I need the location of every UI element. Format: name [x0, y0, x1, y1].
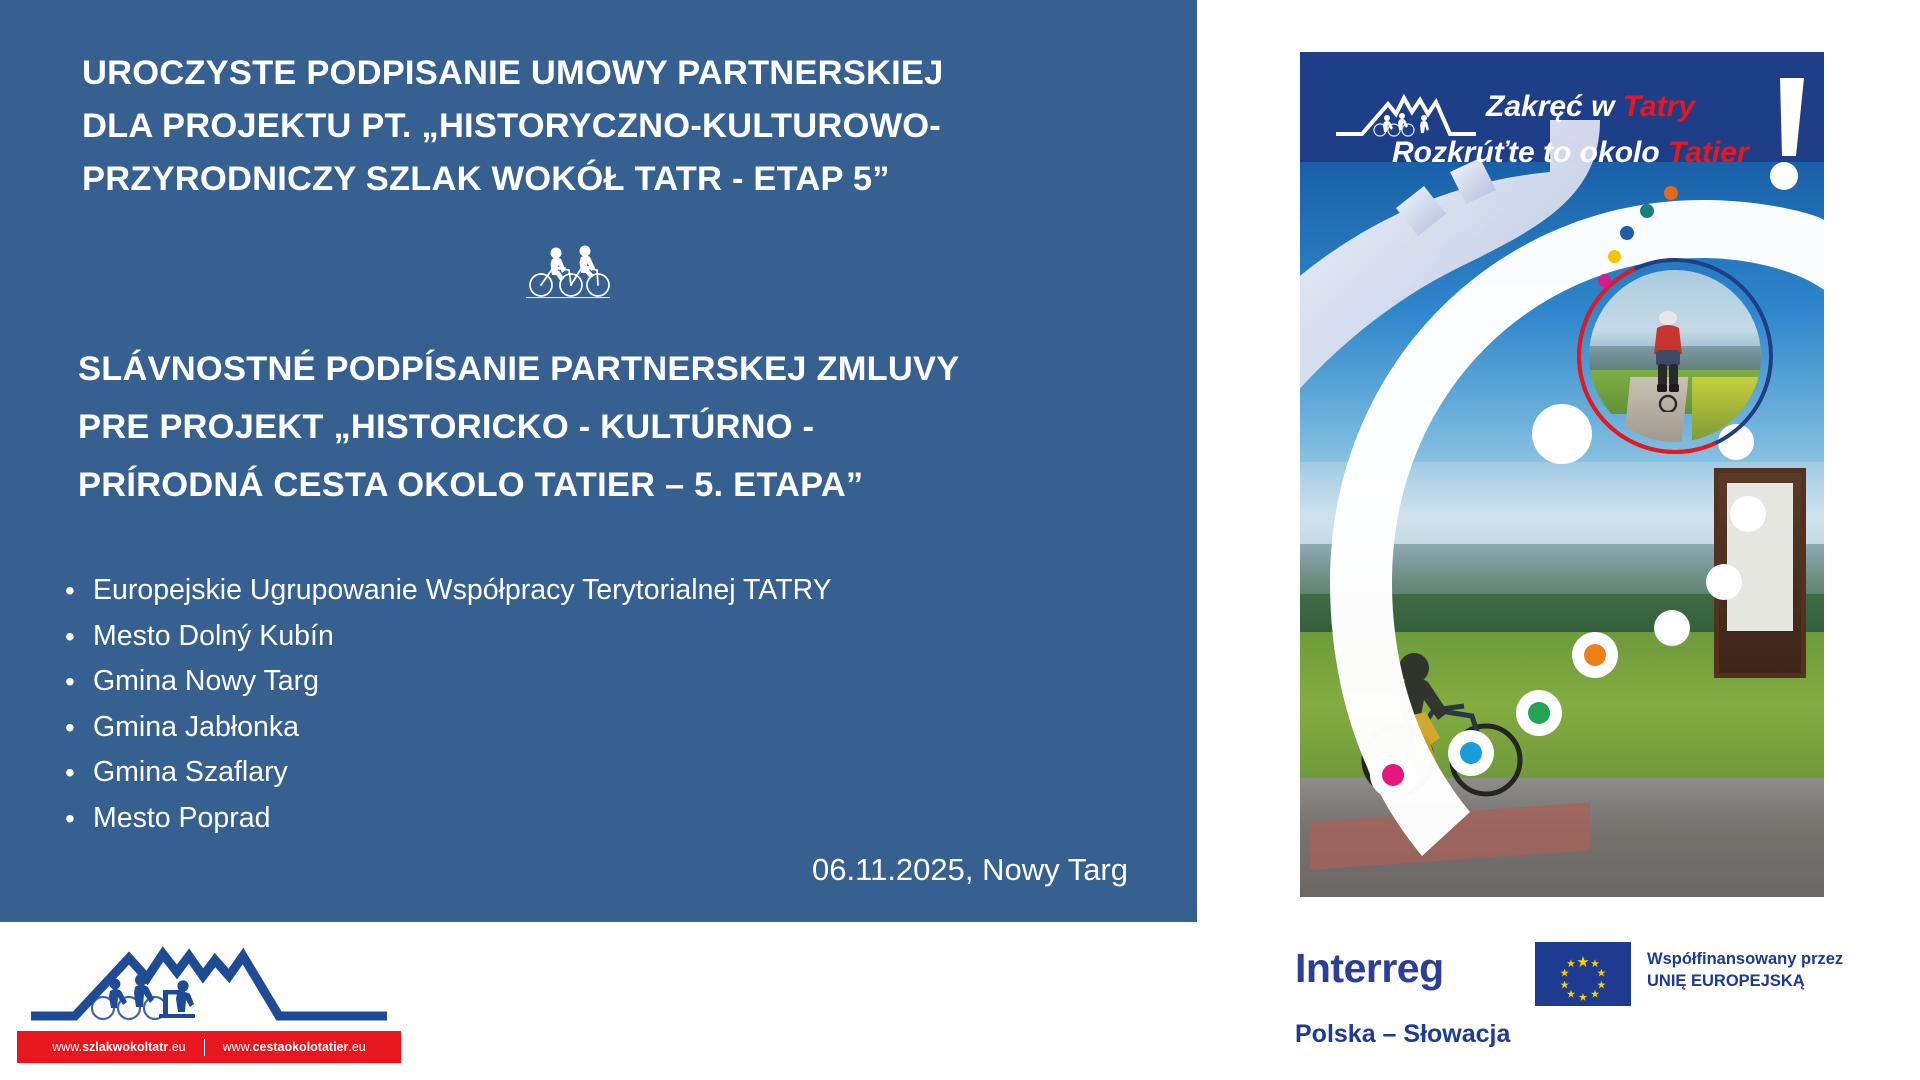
heading-slovak-line-3: PRÍRODNÁ CESTA OKOLO TATIER – 5. ETAPA”	[78, 456, 1158, 514]
photo-trail-signboard	[1714, 468, 1806, 678]
interreg-wordmark: Interreg	[1295, 944, 1444, 992]
inset-cyclist	[1645, 308, 1691, 412]
arc-dot-magenta	[1370, 752, 1416, 798]
partner-list: • Europejskie Ugrupowanie Współpracy Ter…	[62, 568, 832, 841]
presentation-slide: UROCZYSTE PODPISANIE UMOWY PARTNERSKIEJ …	[0, 0, 1920, 1080]
bead-teal-icon	[1640, 204, 1654, 218]
interreg-programme-name: Polska – Słowacja	[1295, 1020, 1510, 1049]
bullet-icon: •	[65, 796, 75, 842]
bead-yellow-icon	[1608, 250, 1621, 263]
claim-line1-accent: Tatry	[1623, 90, 1695, 123]
list-item-label: Europejskie Ugrupowanie Współpracy Teryt…	[93, 574, 832, 606]
arc-dot-blue	[1448, 730, 1494, 776]
heading-slovak: SLÁVNOSTNÉ PODPÍSANIE PARTNERSKEJ ZMLUVY…	[78, 340, 1158, 514]
poster-photo-inset	[1589, 270, 1761, 442]
dot-orange-icon	[1584, 644, 1606, 666]
list-item-label: Mesto Poprad	[93, 802, 270, 834]
poster-header: Zakręć w Tatry Rozkrúťte to okolo Tatier	[1300, 52, 1824, 200]
list-item: • Gmina Nowy Targ	[62, 659, 832, 705]
bullet-icon: •	[65, 750, 75, 796]
bullet-icon: •	[65, 659, 75, 705]
list-item-label: Gmina Jabłonka	[93, 711, 299, 743]
heading-slovak-line-1: SLÁVNOSTNÉ PODPÍSANIE PARTNERSKEJ ZMLUVY	[78, 340, 1158, 398]
eu-cofunding-text: Współfinansowany przez UNIĘ EUROPEJSKĄ	[1647, 948, 1843, 992]
inset-flowers	[1692, 377, 1761, 442]
list-item: • Mesto Poprad	[62, 796, 832, 842]
url-pl: www.szlakwokoltatr.eu	[52, 1040, 185, 1054]
bullet-icon: •	[65, 705, 75, 751]
arc-dot-orange	[1572, 632, 1618, 678]
event-date-place: 06.11.2025, Nowy Targ	[812, 852, 1128, 888]
list-item: • Mesto Dolný Kubín	[62, 614, 832, 660]
dot-blue-icon	[1460, 742, 1482, 764]
url-separator	[204, 1039, 205, 1056]
bead-blue-icon	[1620, 226, 1634, 240]
poster-claim-line-2: Rozkrúťte to okolo Tatier	[1392, 130, 1792, 176]
mountains-cyclists-logo-icon	[17, 938, 401, 1030]
poster-claim-line-1: Zakręć w Tatry	[1486, 84, 1786, 130]
heading-polish-line-3: PRZYRODNICZY SZLAK WOKÓŁ TATR - ETAP 5”	[82, 153, 1142, 206]
exclamation-mark-icon	[1764, 76, 1808, 192]
bead-magenta-icon	[1598, 274, 1611, 287]
bullet-icon: •	[65, 614, 75, 660]
szlak-wokol-tatr-logo: www.szlakwokoltatr.eu www.cestaokolotati…	[17, 938, 401, 1063]
arc-dot-green	[1516, 690, 1562, 736]
claim-line2-white: Rozkrúťte to okolo	[1392, 136, 1668, 169]
url-sk: www.cestaokolotatier.eu	[223, 1040, 366, 1054]
left-blue-panel: UROCZYSTE PODPISANIE UMOWY PARTNERSKIEJ …	[0, 0, 1197, 922]
heading-polish-line-2: DLA PROJEKTU PT. „HISTORYCZNO-KULTUROWO-	[82, 100, 1142, 153]
interreg-footer: Interreg Współfinansowany pr	[1295, 940, 1855, 1060]
list-item-label: Gmina Nowy Targ	[93, 665, 319, 697]
eu-flag-icon	[1535, 942, 1631, 1006]
dot-green-icon	[1528, 702, 1550, 724]
claim-line2-accent: Tatier	[1668, 136, 1749, 169]
heading-polish: UROCZYSTE PODPISANIE UMOWY PARTNERSKIEJ …	[82, 47, 1142, 206]
list-item: • Europejskie Ugrupowanie Współpracy Ter…	[62, 568, 832, 614]
list-item: • Gmina Szaflary	[62, 750, 832, 796]
heading-slovak-line-2: PRE PROJEKT „HISTORICKO - KULTÚRNO -	[78, 398, 1158, 456]
list-item-label: Mesto Dolný Kubín	[93, 620, 334, 652]
heading-polish-line-1: UROCZYSTE PODPISANIE UMOWY PARTNERSKIEJ	[82, 47, 1142, 100]
dot-magenta-icon	[1382, 764, 1404, 786]
photo-signboard-map	[1727, 483, 1793, 631]
campaign-poster: Zakręć w Tatry Rozkrúťte to okolo Tatier	[1300, 52, 1824, 897]
two-cyclists-icon	[523, 242, 613, 300]
eu-cofunding-line-2: UNIĘ EUROPEJSKĄ	[1647, 970, 1843, 992]
claim-line1-white: Zakręć w	[1486, 90, 1623, 123]
logo-url-bar: www.szlakwokoltatr.eu www.cestaokolotati…	[17, 1031, 401, 1063]
eu-cofunding-line-1: Współfinansowany przez	[1647, 948, 1843, 970]
list-item: • Gmina Jabłonka	[62, 705, 832, 751]
list-item-label: Gmina Szaflary	[93, 756, 288, 788]
bullet-icon: •	[65, 568, 75, 614]
